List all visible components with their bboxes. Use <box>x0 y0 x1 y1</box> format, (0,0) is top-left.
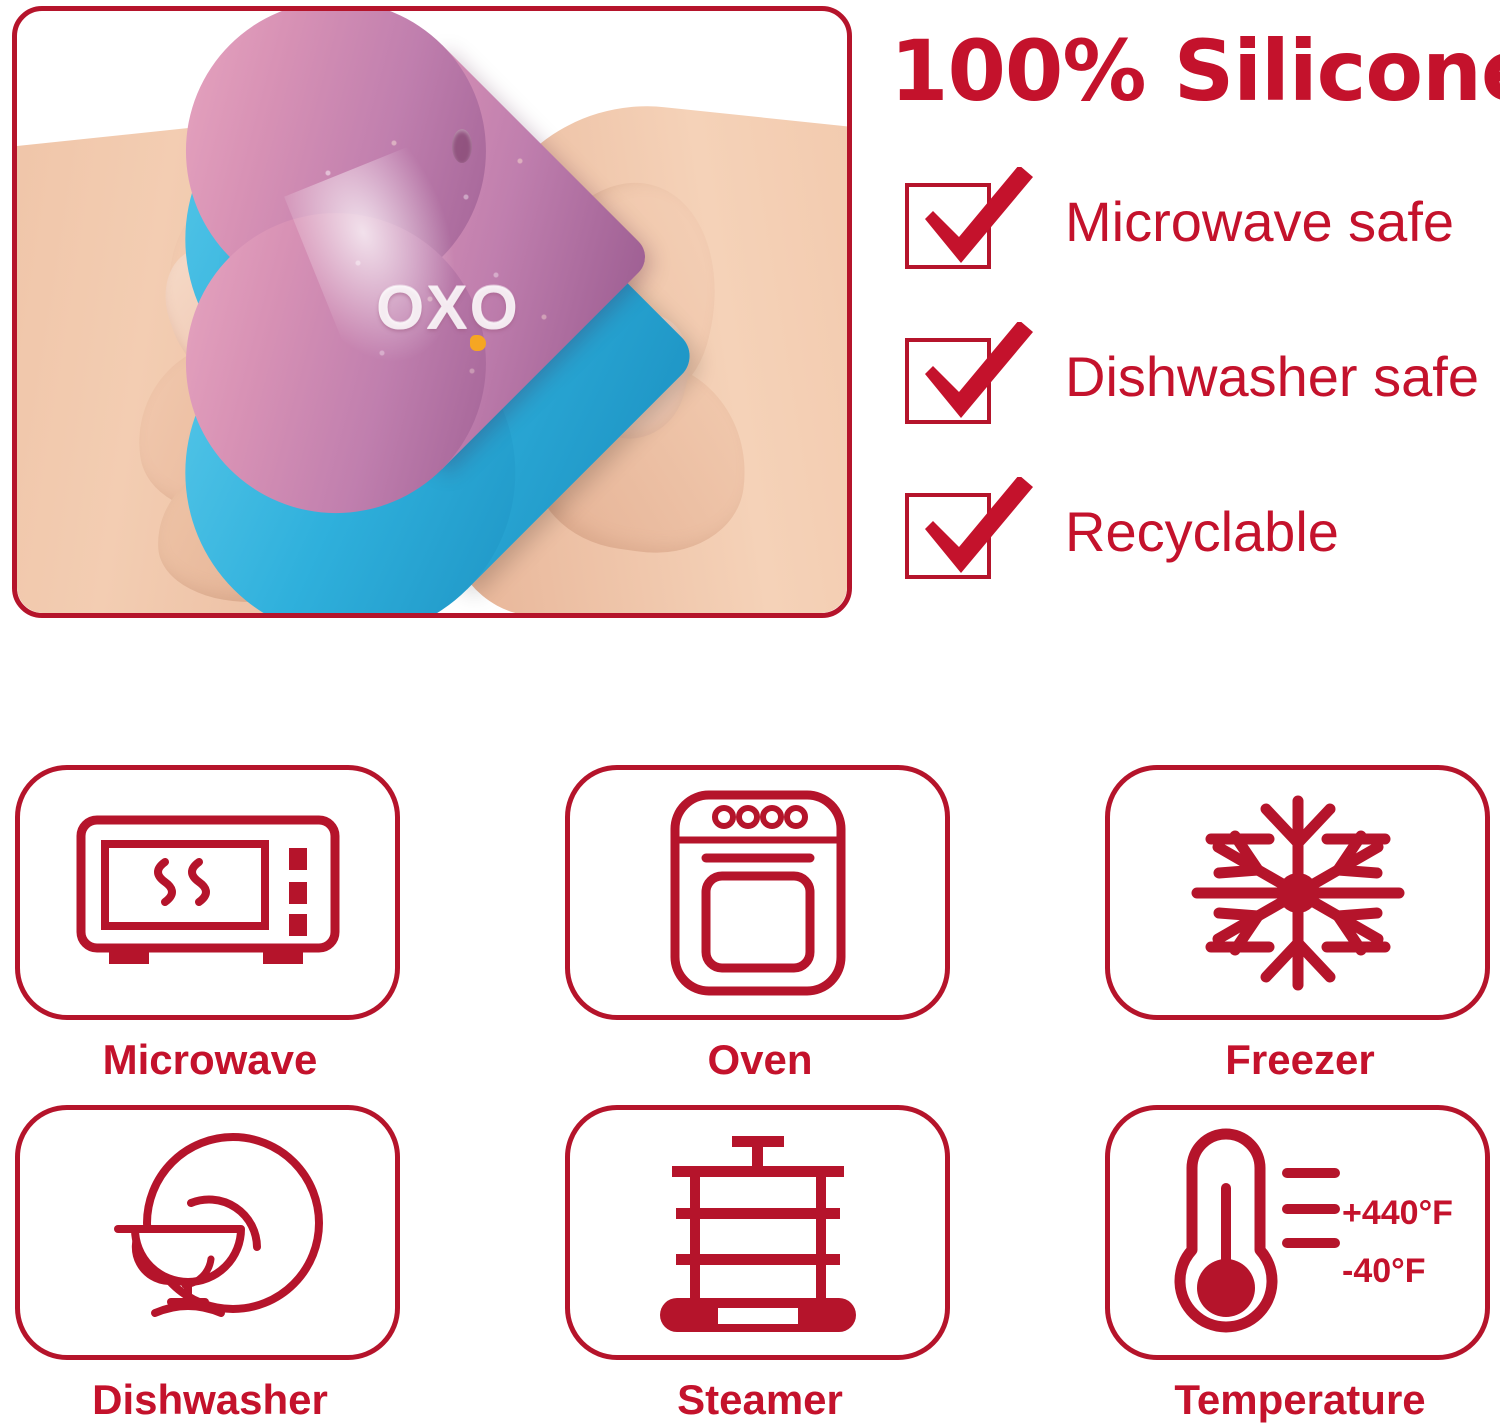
checkbox-checked-icon <box>905 338 991 424</box>
feature-cell-microwave: Microwave <box>15 765 405 1084</box>
snowflake-icon <box>1173 783 1423 1003</box>
checkbox-checked-icon <box>905 493 991 579</box>
checklist-item-label: Microwave safe <box>1065 189 1454 254</box>
product-photo: OXO <box>17 11 847 613</box>
page-title: 100% Silicone <box>890 22 1490 120</box>
feature-label: Steamer <box>565 1376 955 1424</box>
checklist-item-label: Recyclable <box>1065 499 1339 564</box>
checklist-item: Recyclable <box>905 485 1495 640</box>
checklist-item: Dishwasher safe <box>905 330 1495 485</box>
dishes-icon <box>83 1125 333 1340</box>
feature-label: Temperature <box>1105 1376 1495 1424</box>
checklist-item: Microwave safe <box>905 175 1495 330</box>
dishwasher-card <box>15 1105 400 1360</box>
resin-heart: OXO <box>292 107 592 407</box>
safety-checklist: Microwave safe Dishwasher safe Recyclabl… <box>905 175 1495 640</box>
steamer-icon <box>650 1128 865 1338</box>
resin-heart-shape <box>230 45 654 469</box>
orange-fleck <box>470 335 486 351</box>
checklist-item-label: Dishwasher safe <box>1065 344 1479 409</box>
temperature-range: +440°F -40°F <box>1342 1196 1453 1311</box>
feature-label: Freezer <box>1105 1036 1495 1084</box>
oven-card <box>565 765 950 1020</box>
feature-label: Dishwasher <box>15 1376 405 1424</box>
product-photo-frame: OXO <box>12 6 852 618</box>
feature-cell-steamer: Steamer <box>565 1105 955 1424</box>
feature-cell-freezer: Freezer <box>1105 765 1495 1084</box>
microwave-card <box>15 765 400 1020</box>
temperature-max: +440°F <box>1342 1196 1453 1232</box>
freezer-card <box>1105 765 1490 1020</box>
steamer-card <box>565 1105 950 1360</box>
feature-label: Microwave <box>15 1036 405 1084</box>
oven-icon <box>668 788 848 998</box>
feature-cell-dishwasher: Dishwasher <box>15 1105 405 1424</box>
microwave-icon <box>73 808 343 978</box>
feature-label: Oven <box>565 1036 955 1084</box>
keychain-hole <box>452 129 472 163</box>
feature-cell-temperature: +440°F -40°F Temperature <box>1105 1105 1495 1424</box>
checkbox-checked-icon <box>905 183 991 269</box>
temperature-min: -40°F <box>1342 1254 1453 1290</box>
feature-cell-oven: Oven <box>565 765 955 1084</box>
temperature-card: +440°F -40°F <box>1105 1105 1490 1360</box>
